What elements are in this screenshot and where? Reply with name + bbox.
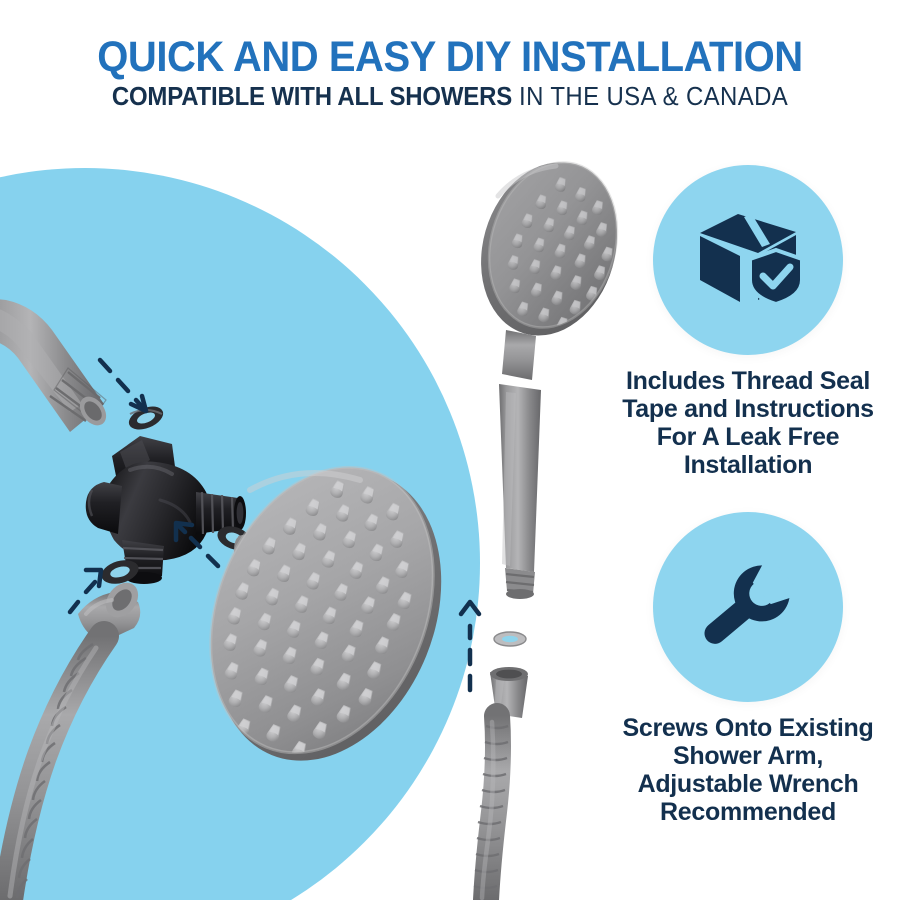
hose-end-connector bbox=[474, 667, 528, 900]
badge-circle bbox=[653, 165, 843, 355]
badge-text: Screws Onto Existing Shower Arm, Adjusta… bbox=[608, 714, 888, 826]
handheld-handle bbox=[499, 330, 541, 599]
subtitle-strong: COMPATIBLE WITH ALL SHOWERS bbox=[112, 83, 512, 111]
washer-handheld bbox=[494, 632, 526, 646]
wrench-icon bbox=[692, 557, 804, 658]
page-subtitle: COMPATIBLE WITH ALL SHOWERS IN THE USA &… bbox=[27, 85, 873, 111]
package-shield-icon bbox=[692, 210, 804, 311]
background-circle bbox=[0, 168, 480, 900]
infographic-canvas: QUICK AND EASY DIY INSTALLATION COMPATIB… bbox=[0, 0, 900, 900]
badge-circle bbox=[653, 512, 843, 702]
badge-text: Includes Thread Seal Tape and Instructio… bbox=[608, 367, 888, 479]
subtitle-light: IN THE USA & CANADA bbox=[512, 83, 788, 111]
header: QUICK AND EASY DIY INSTALLATION COMPATIB… bbox=[0, 36, 900, 111]
feature-badge-thread-seal-tape: Includes Thread Seal Tape and Instructio… bbox=[608, 165, 888, 479]
feature-badge-wrench: Screws Onto Existing Shower Arm, Adjusta… bbox=[608, 512, 888, 826]
page-title: QUICK AND EASY DIY INSTALLATION bbox=[32, 36, 869, 79]
